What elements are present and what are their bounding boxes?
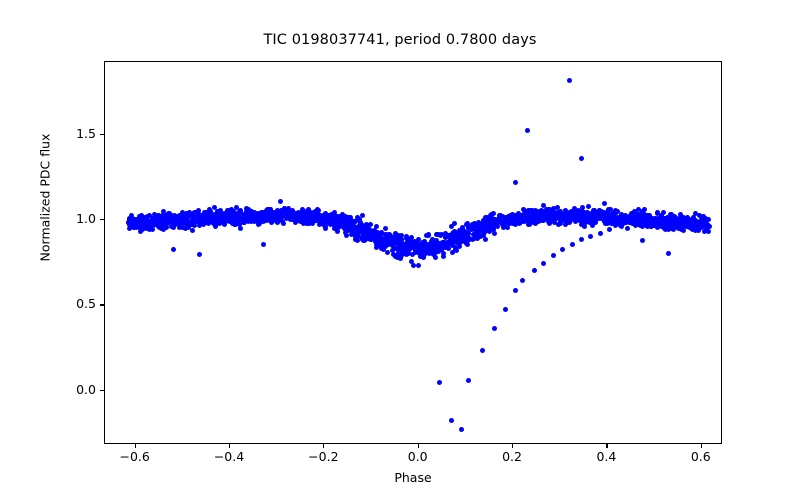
data-point <box>433 255 438 260</box>
data-point-outlier <box>560 247 565 252</box>
data-point <box>190 228 195 233</box>
x-tick-mark <box>606 444 607 448</box>
plot-axes-frame <box>104 61 722 444</box>
data-point-outlier <box>579 156 584 161</box>
x-tick-label: 0.4 <box>571 449 641 464</box>
data-point <box>360 213 365 218</box>
y-tick-mark <box>100 219 104 220</box>
y-tick-label: 0.5 <box>42 296 96 311</box>
x-axis-label: Phase <box>104 470 722 485</box>
x-tick-label: 0.6 <box>666 449 736 464</box>
data-point-outlier <box>666 251 671 256</box>
x-tick-mark <box>418 444 419 448</box>
y-tick-label: 0.0 <box>42 382 96 397</box>
data-point <box>452 221 457 226</box>
x-tick-mark <box>512 444 513 448</box>
data-point <box>238 226 243 231</box>
scatter-points-layer <box>105 62 721 443</box>
data-point <box>625 226 630 231</box>
data-point <box>706 217 711 222</box>
x-tick-label: 0.0 <box>383 449 453 464</box>
data-point-outlier <box>449 418 454 423</box>
x-tick-label: −0.6 <box>100 449 170 464</box>
data-point <box>368 222 373 227</box>
data-point <box>383 226 388 231</box>
data-point <box>441 254 446 259</box>
data-point-outlier <box>520 278 525 283</box>
data-point <box>706 229 711 234</box>
data-point-outlier <box>513 288 518 293</box>
data-point-outlier <box>437 380 442 385</box>
y-tick-mark <box>100 390 104 391</box>
data-point-outlier <box>416 263 421 268</box>
x-tick-label: −0.4 <box>194 449 264 464</box>
data-point-outlier <box>551 253 556 258</box>
data-point <box>491 211 496 216</box>
x-tick-mark <box>701 444 702 448</box>
data-point-outlier <box>567 78 572 83</box>
data-point <box>344 233 349 238</box>
x-tick-label: 0.2 <box>477 449 547 464</box>
figure-canvas: TIC 0198037741, period 0.7800 days −0.6−… <box>0 0 800 500</box>
data-point-outlier <box>598 231 603 236</box>
data-point <box>335 229 340 234</box>
y-tick-mark <box>100 134 104 135</box>
x-tick-label: −0.2 <box>288 449 358 464</box>
data-point-outlier <box>459 427 464 432</box>
data-point-outlier <box>503 307 508 312</box>
data-point-outlier <box>579 237 584 242</box>
data-point <box>385 250 390 255</box>
data-point-outlier <box>607 227 612 232</box>
data-point <box>278 199 283 204</box>
data-point-outlier <box>525 128 530 133</box>
data-point-outlier <box>570 242 575 247</box>
x-tick-mark <box>135 444 136 448</box>
data-point-outlier <box>197 252 202 257</box>
data-point-outlier <box>466 378 471 383</box>
page-title: TIC 0198037741, period 0.7800 days <box>0 32 800 48</box>
data-point-outlier <box>480 348 485 353</box>
data-point <box>602 201 607 206</box>
data-point <box>457 244 462 249</box>
data-point-outlier <box>171 247 176 252</box>
x-tick-mark <box>229 444 230 448</box>
data-point <box>492 231 497 236</box>
y-tick-mark <box>100 304 104 305</box>
x-tick-mark <box>323 444 324 448</box>
data-point <box>374 224 379 229</box>
data-point-outlier <box>532 268 537 273</box>
data-point-outlier <box>513 180 518 185</box>
data-point <box>707 224 712 229</box>
data-point <box>505 225 510 230</box>
y-axis-label: Normalized PDC flux <box>38 98 53 298</box>
data-point-outlier <box>588 234 593 239</box>
data-point-outlier <box>492 326 497 331</box>
data-point-outlier <box>261 242 266 247</box>
data-point-outlier <box>541 261 546 266</box>
data-point <box>465 242 470 247</box>
data-point-outlier <box>640 238 645 243</box>
data-point <box>483 237 488 242</box>
